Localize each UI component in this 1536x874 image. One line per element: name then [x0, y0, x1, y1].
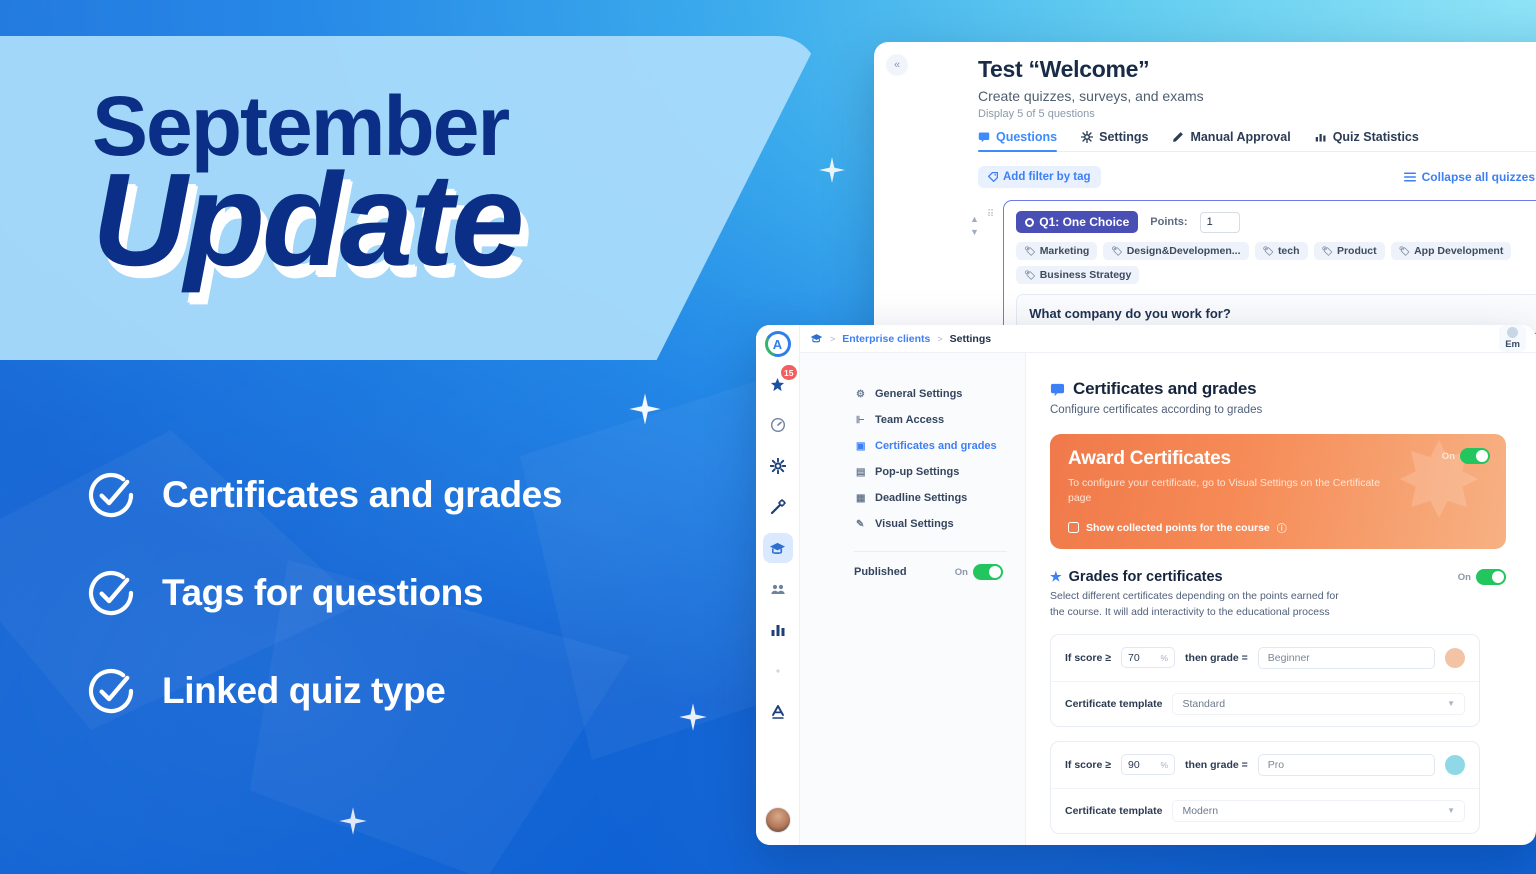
tag-icon: 🏷 — [1399, 246, 1410, 257]
certificate-template-select[interactable]: Standard ▼ — [1172, 693, 1465, 715]
settings-columns: ⚙ General Settings ⊩ Team Access ▣ Certi… — [800, 353, 1536, 845]
award-card-title: Award Certificates — [1068, 448, 1231, 470]
team-icon: ⊩ — [856, 415, 868, 426]
rail-item-statistics[interactable] — [763, 615, 793, 645]
certificate-template-value: Standard — [1182, 698, 1225, 710]
check-circle-icon — [86, 470, 136, 520]
tab-questions[interactable]: Questions — [978, 130, 1057, 151]
percent-symbol: % — [1160, 653, 1168, 663]
grade-color-swatch[interactable] — [1445, 648, 1465, 668]
settings-window: A 15 — [756, 325, 1536, 845]
award-toggle-state-label: On — [1442, 451, 1455, 462]
people-icon — [770, 581, 786, 597]
avatar[interactable] — [765, 807, 791, 833]
tag-chip[interactable]: 🏷Product — [1314, 242, 1385, 260]
score-label: If score ≥ — [1065, 652, 1111, 664]
radio-icon — [1025, 218, 1034, 227]
bar-chart-icon — [770, 622, 786, 638]
certificate-icon — [1050, 382, 1065, 397]
settings-topbar: > Enterprise clients > Settings Em — [800, 325, 1536, 353]
tag-chip[interactable]: 🏷tech — [1255, 242, 1308, 260]
tag-label: Design&Developmen... — [1127, 245, 1241, 257]
tag-label: Business Strategy — [1040, 269, 1132, 281]
collapse-sidebar-button[interactable]: « — [886, 54, 908, 76]
quiz-question-count: Display 5 of 5 questions — [978, 108, 1536, 120]
tab-label: Settings — [1099, 130, 1148, 144]
feature-list: Certificates and grades Tags for questio… — [86, 470, 562, 716]
list-item: Linked quiz type — [86, 666, 562, 716]
divider — [854, 551, 1007, 552]
user-menu[interactable]: Em — [1499, 325, 1526, 352]
gauge-icon — [770, 417, 786, 433]
brush-icon: ✎ — [856, 519, 868, 530]
award-card-description: To configure your certificate, go to Vis… — [1068, 476, 1398, 506]
popup-icon: ▤ — [856, 467, 868, 478]
tab-label: Manual Approval — [1190, 130, 1290, 144]
feature-label: Linked quiz type — [162, 670, 445, 712]
sidebar-item-label: Pop-up Settings — [875, 466, 959, 478]
content-title-label: Certificates and grades — [1073, 379, 1256, 399]
drag-handle-icon[interactable]: ⠿ — [987, 200, 995, 217]
info-icon[interactable]: ⓘ — [1277, 520, 1287, 535]
sidebar-item-certificates-and-grades[interactable]: ▣ Certificates and grades — [800, 433, 1025, 459]
breadcrumb-separator: > — [937, 334, 942, 344]
rail-item-design[interactable] — [763, 492, 793, 522]
content-subtitle: Configure certificates according to grad… — [1050, 404, 1536, 416]
graduation-cap-icon — [769, 540, 786, 557]
sidebar-item-label: Certificates and grades — [875, 440, 997, 452]
certificate-template-label: Certificate template — [1065, 805, 1162, 817]
list-icon — [1404, 171, 1416, 183]
settings-main: > Enterprise clients > Settings Em ⚙ Gen… — [800, 325, 1536, 845]
filter-label: Add filter by tag — [1003, 171, 1091, 183]
sidebar-item-label: General Settings — [875, 388, 962, 400]
rail-item-dot[interactable] — [763, 656, 793, 686]
rail-item-courses[interactable] — [763, 533, 793, 563]
sidebar-item-team-access[interactable]: ⊩ Team Access — [800, 407, 1025, 433]
grades-toggle-wrap: On — [1458, 569, 1506, 585]
user-avatar-icon — [1507, 327, 1518, 338]
question-chat-icon — [978, 131, 990, 143]
tag-chip[interactable]: 🏷Design&Developmen... — [1103, 242, 1248, 260]
score-input[interactable]: 90 % — [1121, 754, 1175, 775]
grades-toggle-state-label: On — [1458, 572, 1471, 583]
rail-item-dashboard[interactable] — [763, 410, 793, 440]
breadcrumb-link-enterprise-clients[interactable]: Enterprise clients — [842, 333, 930, 345]
show-collected-points-label: Show collected points for the course — [1086, 522, 1270, 534]
tab-quiz-statistics[interactable]: Quiz Statistics — [1315, 130, 1419, 151]
grade-label: then grade = — [1185, 652, 1248, 664]
breadcrumb: > Enterprise clients > Settings — [810, 332, 991, 345]
tab-settings[interactable]: Settings — [1081, 130, 1148, 151]
content-title: Certificates and grades — [1050, 379, 1536, 399]
grade-name-input[interactable]: Pro — [1258, 754, 1435, 776]
gear-icon — [770, 458, 786, 474]
tag-icon: 🏷 — [1024, 270, 1035, 281]
grades-for-certificates-toggle[interactable] — [1476, 569, 1506, 585]
award-toggle-wrap: On — [1442, 448, 1490, 464]
calendar-icon: ▦ — [856, 493, 868, 504]
certificate-template-value: Modern — [1182, 805, 1218, 817]
points-label: Points: — [1150, 216, 1187, 228]
tab-manual-approval[interactable]: Manual Approval — [1172, 130, 1290, 151]
chevron-down-icon: ▼ — [1447, 699, 1455, 708]
title-line-update: Update — [92, 159, 792, 280]
feature-label: Tags for questions — [162, 572, 483, 614]
tag-label: Marketing — [1040, 245, 1090, 257]
quiz-editor-window: « Test “Welcome” Create quizzes, surveys… — [874, 42, 1536, 342]
published-row: Published On — [800, 562, 1025, 580]
grades-description: Select different certificates depending … — [1050, 589, 1350, 619]
question-card-wrapper: ▲ ▼ ⠿ Q1: One Choice Points: 1 ⋮ 🏷Market… — [970, 200, 1536, 334]
star-icon: ★ — [1050, 569, 1062, 585]
check-circle-icon — [86, 666, 136, 716]
page-title: September Update — [92, 88, 792, 281]
collapse-all-label: Collapse all quizzes — [1422, 170, 1535, 184]
rail-item-settings[interactable] — [763, 451, 793, 481]
reorder-arrows[interactable]: ▲ ▼ — [970, 200, 979, 237]
sidebar-item-popup-settings[interactable]: ▤ Pop-up Settings — [800, 459, 1025, 485]
grades-title: ★ Grades for certificates — [1050, 569, 1223, 585]
check-circle-icon — [86, 568, 136, 618]
sidebar-item-deadline-settings[interactable]: ▦ Deadline Settings — [800, 485, 1025, 511]
tag-icon: 🏷 — [1322, 246, 1333, 257]
tag-icon — [988, 172, 998, 182]
magic-wand-icon — [770, 499, 786, 515]
tag-chip[interactable]: 🏷Business Strategy — [1016, 266, 1139, 284]
tag-label: App Development — [1414, 245, 1503, 257]
sidebar-item-label: Team Access — [875, 414, 944, 426]
notification-badge: 15 — [781, 365, 796, 380]
question-type-label: Q1: One Choice — [1039, 215, 1129, 229]
grade-name-input[interactable]: Beginner — [1258, 647, 1435, 669]
show-collected-points-checkbox[interactable] — [1068, 522, 1079, 533]
certificate-template-row: Certificate template Standard ▼ — [1051, 682, 1479, 726]
published-toggle[interactable] — [973, 564, 1003, 580]
tag-chip[interactable]: 🏷Marketing — [1016, 242, 1097, 260]
question-card: Q1: One Choice Points: 1 ⋮ 🏷Marketing 🏷D… — [1003, 200, 1536, 334]
award-certificates-toggle[interactable] — [1460, 448, 1490, 464]
sidebar-item-label: Deadline Settings — [875, 492, 967, 504]
quiz-filter-row: Add filter by tag Collapse all quizzes ⋮ — [978, 166, 1536, 188]
certificate-template-select[interactable]: Modern ▼ — [1172, 800, 1465, 822]
app-logo[interactable]: A — [765, 331, 791, 357]
tag-icon: 🏷 — [1263, 246, 1274, 257]
question-tags: 🏷Marketing 🏷Design&Developmen... 🏷tech 🏷… — [1016, 242, 1536, 284]
dot-icon — [774, 667, 782, 675]
sidebar-item-visual-settings[interactable]: ✎ Visual Settings — [800, 511, 1025, 537]
move-down-icon[interactable]: ▼ — [970, 227, 979, 237]
grade-rule-card: If score ≥ 70 % then grade = Beginner Ce… — [1050, 634, 1480, 727]
pencil-icon — [1172, 131, 1184, 143]
grades-title-label: Grades for certificates — [1069, 569, 1223, 585]
score-value: 90 — [1128, 759, 1140, 771]
percent-symbol: % — [1160, 760, 1168, 770]
certificate-template-row: Certificate template Modern ▼ — [1051, 789, 1479, 833]
tag-label: Product — [1337, 245, 1377, 257]
quiz-title: Test “Welcome” — [978, 56, 1536, 83]
collapse-all-quizzes-button[interactable]: Collapse all quizzes — [1404, 170, 1535, 184]
list-item: Tags for questions — [86, 568, 562, 618]
breadcrumb-current-settings: Settings — [950, 333, 991, 345]
tag-chip[interactable]: 🏷App Development — [1391, 242, 1512, 260]
score-label: If score ≥ — [1065, 759, 1111, 771]
tab-label: Questions — [996, 130, 1057, 144]
sidebar-item-label: Visual Settings — [875, 518, 954, 530]
show-collected-points-row[interactable]: Show collected points for the course ⓘ — [1068, 520, 1490, 535]
bar-chart-icon — [1315, 131, 1327, 143]
star-icon — [770, 377, 785, 392]
award-certificates-card: Award Certificates On To configure your … — [1050, 434, 1506, 549]
rail-item-people[interactable] — [763, 574, 793, 604]
rail-item-text-format[interactable] — [763, 697, 793, 727]
tab-label: Quiz Statistics — [1333, 130, 1419, 144]
quiz-filter-actions: Collapse all quizzes ⋮ — [1404, 169, 1536, 186]
add-filter-by-tag-button[interactable]: Add filter by tag — [978, 166, 1101, 188]
app-icon-rail: A 15 — [756, 325, 800, 845]
question-type-badge[interactable]: Q1: One Choice — [1016, 211, 1138, 233]
settings-window-body: A 15 — [756, 325, 1536, 845]
quiz-tabs: Questions Settings Manual Approval Quiz … — [978, 130, 1536, 152]
points-input[interactable]: 1 — [1200, 212, 1240, 233]
grade-label: then grade = — [1185, 759, 1248, 771]
text-format-icon — [770, 704, 786, 720]
grade-color-swatch[interactable] — [1445, 755, 1465, 775]
certificate-template-label: Certificate template — [1065, 698, 1162, 710]
user-name-label: Em — [1505, 339, 1520, 350]
sidebar-item-general-settings[interactable]: ⚙ General Settings — [800, 381, 1025, 407]
published-label: Published — [854, 566, 907, 578]
tag-icon: 🏷 — [1024, 246, 1035, 257]
question-card-header: Q1: One Choice Points: 1 ⋮ — [1016, 211, 1536, 233]
tag-icon: 🏷 — [1111, 246, 1122, 257]
gear-icon — [1081, 131, 1093, 143]
logo-letter: A — [768, 334, 788, 354]
grade-rule-card: If score ≥ 90 % then grade = Pro Certifi… — [1050, 741, 1480, 834]
rail-item-star[interactable]: 15 — [763, 369, 793, 399]
settings-nav: ⚙ General Settings ⊩ Team Access ▣ Certi… — [800, 353, 1026, 845]
settings-content: Certificates and grades Configure certif… — [1026, 353, 1536, 845]
feature-label: Certificates and grades — [162, 474, 562, 516]
grade-rule-row: If score ≥ 70 % then grade = Beginner — [1051, 635, 1479, 682]
list-item: Certificates and grades — [86, 470, 562, 520]
chevron-down-icon: ▼ — [1447, 806, 1455, 815]
score-input[interactable]: 70 % — [1121, 647, 1175, 668]
grades-header: ★ Grades for certificates On — [1050, 569, 1506, 585]
breadcrumb-separator: > — [830, 334, 835, 344]
certificate-icon: ▣ — [856, 441, 868, 452]
move-up-icon[interactable]: ▲ — [970, 214, 979, 224]
quiz-header: Test “Welcome” Create quizzes, surveys, … — [874, 42, 1536, 120]
tag-label: tech — [1278, 245, 1300, 257]
graduation-cap-icon[interactable] — [810, 332, 823, 345]
gear-icon: ⚙ — [856, 389, 868, 400]
grade-rule-row: If score ≥ 90 % then grade = Pro — [1051, 742, 1479, 789]
score-value: 70 — [1128, 652, 1140, 664]
quiz-subtitle: Create quizzes, surveys, and exams — [978, 88, 1536, 104]
published-state-label: On — [955, 567, 968, 578]
